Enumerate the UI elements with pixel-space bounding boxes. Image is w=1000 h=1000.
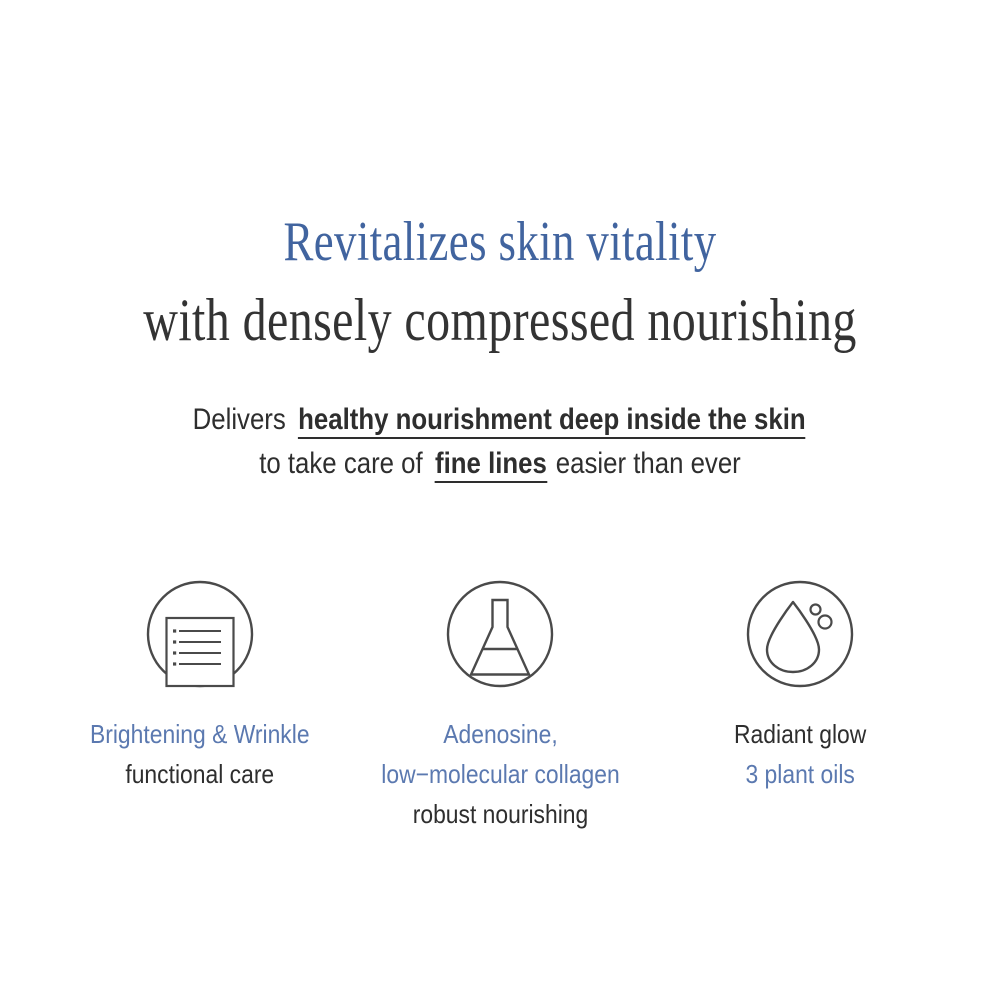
feature-caption-radiant-glow: Radiant glow 3 plant oils bbox=[725, 714, 875, 794]
subcopy-line-1-emphasis: healthy nourishment deep inside the skin bbox=[298, 403, 806, 439]
headline-line-1: Revitalizes skin vitality bbox=[100, 214, 900, 270]
feature-item-brightening-wrinkle: Brightening & Wrinkle functional care bbox=[50, 580, 350, 794]
feature-caption-line: Adenosine, bbox=[381, 714, 619, 754]
headline-block: Revitalizes skin vitality with densely c… bbox=[0, 214, 1000, 350]
water-drop-icon bbox=[746, 580, 854, 688]
subcopy-line-1-prefix: Delivers bbox=[193, 403, 286, 436]
subcopy-block: Delivers healthy nourishment deep inside… bbox=[0, 398, 1000, 486]
flask-icon bbox=[446, 580, 554, 688]
subcopy-line-2-suffix: easier than ever bbox=[556, 447, 741, 480]
feature-caption-line: Brightening & Wrinkle bbox=[90, 714, 310, 754]
subcopy-line-2-emphasis: fine lines bbox=[435, 447, 547, 483]
promo-page: Revitalizes skin vitality with densely c… bbox=[0, 0, 1000, 1000]
feature-caption-line: functional care bbox=[90, 754, 310, 794]
feature-caption-line: Radiant glow bbox=[734, 714, 866, 754]
subcopy-line-1: Delivers healthy nourishment deep inside… bbox=[70, 398, 930, 442]
feature-item-adenosine-collagen: Adenosine, low−molecular collagen robust… bbox=[350, 580, 650, 834]
feature-caption-adenosine-collagen: Adenosine, low−molecular collagen robust… bbox=[365, 714, 636, 834]
feature-caption-brightening-wrinkle: Brightening & Wrinkle functional care bbox=[75, 714, 325, 794]
subcopy-line-2-prefix: to take care of bbox=[259, 447, 422, 480]
feature-caption-line: 3 plant oils bbox=[734, 754, 866, 794]
feature-caption-line: robust nourishing bbox=[381, 794, 619, 834]
feature-caption-line: low−molecular collagen bbox=[381, 754, 619, 794]
headline-line-2: with densely compressed nourishing bbox=[100, 290, 900, 350]
feature-list: Brightening & Wrinkle functional care Ad… bbox=[50, 580, 950, 834]
document-list-icon bbox=[146, 580, 254, 688]
subcopy-line-2: to take care of fine lines easier than e… bbox=[70, 442, 930, 486]
feature-item-radiant-glow: Radiant glow 3 plant oils bbox=[650, 580, 950, 794]
